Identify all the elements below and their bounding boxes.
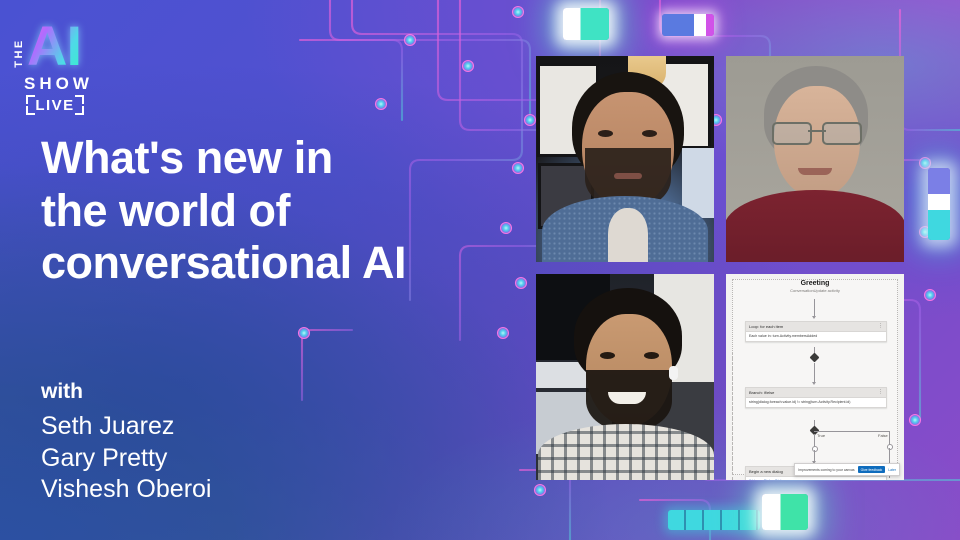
toast-message: Improvements coming to your canvas: [798, 468, 854, 472]
flow-trigger-header: Greeting ConversationUpdate activity: [726, 280, 904, 293]
speaker-credits: with Seth Juarez Gary Pretty Vishesh Obe…: [41, 380, 211, 506]
flow-node-branch-body: string(dialog.foreach.value.id) != strin…: [746, 398, 886, 407]
title-line-1: What's new in: [41, 132, 471, 185]
eyeglasses: [772, 122, 862, 142]
flow-node-loop-body: Each value in: turn.Activity.membersAdde…: [746, 332, 886, 341]
later-button[interactable]: Later: [888, 468, 896, 472]
title-line-3: conversational AI: [41, 237, 471, 290]
flow-node-begin-dialog-body[interactable]: WelcomeDialog.Dialog: [746, 477, 886, 480]
webcam-tile-seth-juarez[interactable]: [536, 56, 714, 262]
flow-node-loop[interactable]: Loop: for each item ⋮ Each value in: tur…: [745, 321, 887, 342]
decor-bar-top-right: [662, 14, 714, 36]
flow-node-branch-header[interactable]: Branch: if/else ⋮: [746, 388, 886, 398]
logo-live-text: LIVE: [26, 95, 84, 115]
logo-live-bracket: LIVE: [26, 95, 84, 115]
decor-bar-right-edge: [928, 168, 950, 240]
video-call-grid: Greeting ConversationUpdate activity Loo…: [536, 56, 904, 480]
decor-bar-top-left: [563, 8, 609, 40]
flow-node-begin-dialog-title: Begin a new dialog: [749, 469, 783, 474]
bot-composer-canvas[interactable]: Greeting ConversationUpdate activity Loo…: [726, 274, 904, 480]
speaker-name-1: Seth Juarez: [41, 411, 211, 443]
broadcast-slide: THE AI SHOW LIVE What's new in the world…: [0, 0, 960, 540]
flow-node-loop-header[interactable]: Loop: for each item ⋮: [746, 322, 886, 332]
ai-show-live-logo: THE AI SHOW LIVE: [10, 12, 96, 116]
webcam-tile-vishesh-oberoi[interactable]: [536, 274, 714, 480]
canvas-feedback-toast[interactable]: Improvements coming to your canvas Give …: [794, 463, 900, 476]
give-feedback-button[interactable]: Give feedback: [858, 466, 886, 473]
decor-bar-bottom-right: [762, 494, 808, 530]
flow-node-branch-title: Branch: if/else: [749, 390, 774, 395]
logo-ai-text: AI: [27, 18, 81, 74]
decor-bar-bottom-segments: [668, 510, 760, 530]
more-options-icon[interactable]: ⋮: [878, 324, 883, 329]
flow-trigger-subtitle: ConversationUpdate activity: [726, 288, 904, 293]
flow-branch-true-label: True: [817, 433, 825, 438]
speaker-name-3: Vishesh Oberoi: [41, 474, 211, 506]
speaker-name-2: Gary Pretty: [41, 443, 211, 475]
flow-node-branch[interactable]: Branch: if/else ⋮ string(dialog.foreach.…: [745, 387, 887, 408]
logo-show-text: SHOW: [24, 74, 93, 94]
webcam-tile-gary-pretty[interactable]: [726, 56, 904, 262]
logo-the-text: THE: [12, 32, 26, 74]
with-label: with: [41, 380, 211, 404]
logo-the-label: THE: [12, 32, 26, 74]
more-options-icon[interactable]: ⋮: [878, 390, 883, 395]
screen-share-tile[interactable]: Greeting ConversationUpdate activity Loo…: [726, 274, 904, 480]
flow-node-loop-title: Loop: for each item: [749, 324, 783, 329]
earbud-icon: [669, 366, 678, 380]
title-line-2: the world of: [41, 185, 471, 238]
flow-trigger-title: Greeting: [726, 280, 904, 287]
flow-branch-false-label: False: [878, 433, 888, 438]
page-title: What's new in the world of conversationa…: [41, 132, 471, 290]
